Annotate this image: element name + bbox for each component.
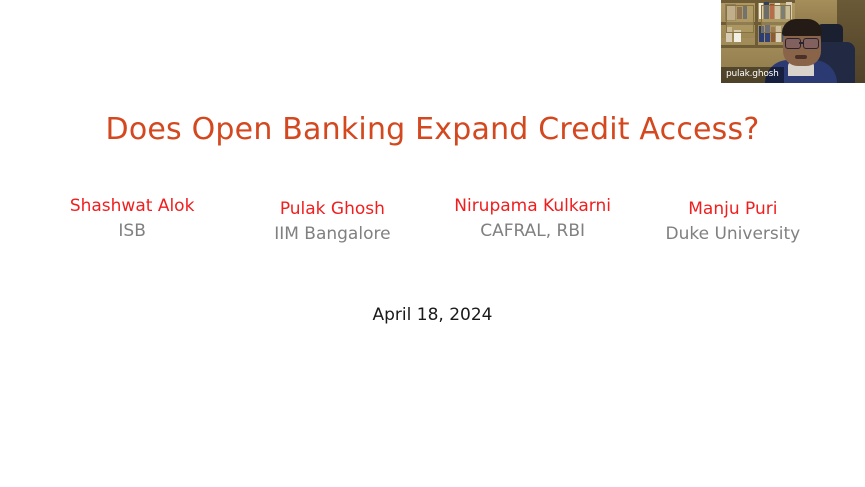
author-block: Pulak Ghosh IIM Bangalore	[232, 201, 432, 243]
participant-mouth	[795, 55, 807, 59]
participant-name-label: pulak.ghosh	[721, 67, 784, 83]
author-affiliation: IIM Bangalore	[232, 226, 432, 243]
author-list: Shashwat Alok ISB Pulak Ghosh IIM Bangal…	[0, 198, 865, 243]
presentation-slide: Does Open Banking Expand Credit Access? …	[0, 0, 865, 487]
author-affiliation: CAFRAL, RBI	[433, 223, 633, 240]
participant-hair	[782, 19, 822, 36]
author-affiliation: ISB	[32, 223, 232, 240]
author-block: Manju Puri Duke University	[633, 201, 833, 243]
author-name: Manju Puri	[633, 201, 833, 218]
glasses-bridge	[799, 42, 803, 44]
author-name: Pulak Ghosh	[232, 201, 432, 218]
glasses-icon	[803, 38, 819, 49]
author-name: Shashwat Alok	[32, 198, 232, 215]
author-block: Shashwat Alok ISB	[32, 198, 232, 240]
glasses-icon	[785, 38, 801, 49]
slide-date: April 18, 2024	[0, 305, 865, 325]
author-block: Nirupama Kulkarni CAFRAL, RBI	[433, 198, 633, 240]
slide-title: Does Open Banking Expand Credit Access?	[0, 112, 865, 147]
participant-video-tile[interactable]: pulak.ghosh	[721, 0, 865, 83]
author-name: Nirupama Kulkarni	[433, 198, 633, 215]
author-affiliation: Duke University	[633, 226, 833, 243]
